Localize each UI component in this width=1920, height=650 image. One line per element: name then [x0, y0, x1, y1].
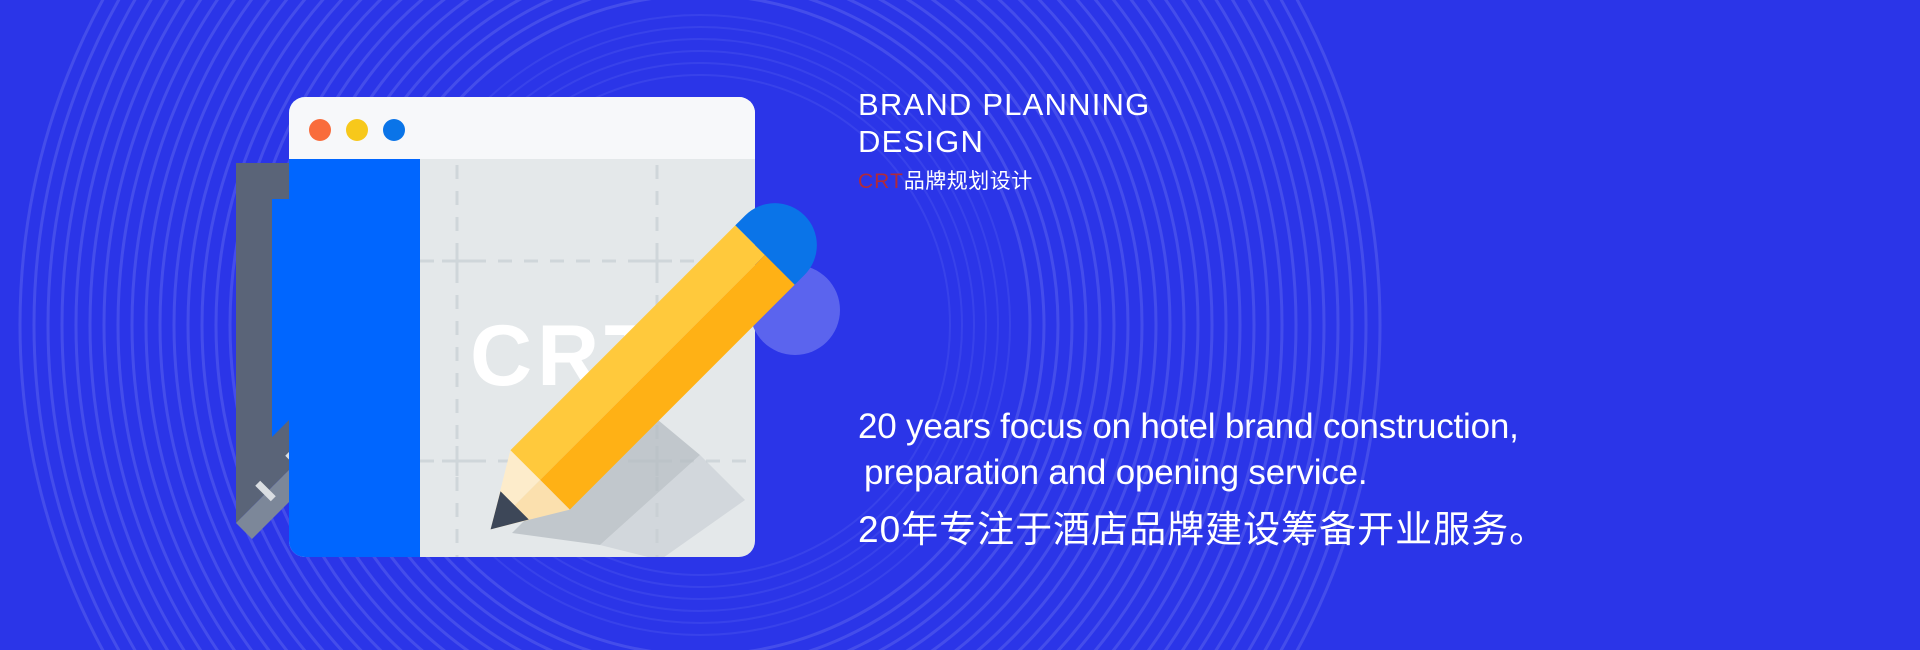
heading-subtitle-chinese: 品牌规划设计: [904, 170, 1033, 193]
window-title-bar: [289, 97, 755, 159]
brand-design-illustration: CRT: [0, 0, 900, 650]
banner-tagline: 20 years focus on hotel brand constructi…: [858, 404, 1758, 554]
maximize-dot: [383, 119, 405, 141]
tagline-chinese: 20年专注于酒店品牌建设筹备开业服务。: [858, 506, 1758, 554]
accent-panel: [289, 97, 420, 557]
heading-line-1: BRAND PLANNING: [858, 86, 1498, 123]
heading-subtitle: CRT品牌规划设计: [858, 169, 1498, 195]
banner-text-column: BRAND PLANNING DESIGN CRT品牌规划设计 20 years…: [858, 0, 1858, 650]
close-dot: [309, 119, 331, 141]
brand-banner: CRT BRAND PLANNING D: [0, 0, 1920, 650]
tagline-english-line-1: 20 years focus on hotel brand constructi…: [858, 404, 1758, 450]
minimize-dot: [346, 119, 368, 141]
heading-line-2: DESIGN: [858, 123, 1498, 160]
tagline-english-line-2: preparation and opening service.: [858, 450, 1758, 496]
brand-mark-crt: CRT: [858, 170, 904, 193]
banner-heading: BRAND PLANNING DESIGN CRT品牌规划设计: [858, 86, 1498, 195]
